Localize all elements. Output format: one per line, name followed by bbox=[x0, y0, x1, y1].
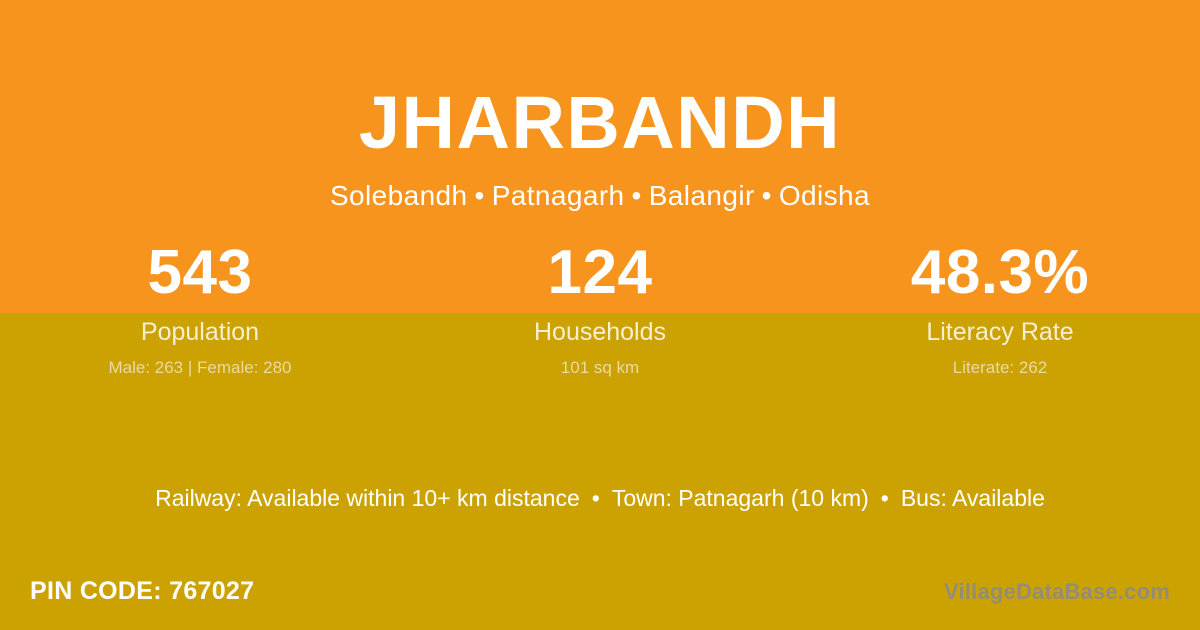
amenity-town: Town: Patnagarh (10 km) bbox=[612, 485, 869, 511]
breadcrumb-item-gram-panchayat: Solebandh bbox=[330, 180, 468, 211]
amenities-line: Railway: Available within 10+ km distanc… bbox=[0, 484, 1200, 513]
stat-label: Population bbox=[0, 317, 400, 347]
stat-population: 543 Population Male: 263 | Female: 280 bbox=[0, 240, 400, 378]
amenity-railway: Railway: Available within 10+ km distanc… bbox=[155, 485, 580, 511]
village-info-card: JHARBANDH Solebandh•Patnagarh•Balangir•O… bbox=[0, 0, 1200, 630]
stat-value: 124 bbox=[400, 240, 800, 307]
card-header: JHARBANDH Solebandh•Patnagarh•Balangir•O… bbox=[0, 0, 1200, 212]
page-title: JHARBANDH bbox=[0, 82, 1200, 165]
site-brand: VillageDataBase.com bbox=[944, 579, 1170, 605]
pin-code: PIN CODE: 767027 bbox=[30, 576, 254, 606]
stat-literacy-rate: 48.3% Literacy Rate Literate: 262 bbox=[800, 240, 1200, 378]
amenity-separator-icon: • bbox=[869, 485, 901, 511]
breadcrumb-separator-icon: • bbox=[468, 180, 492, 211]
stat-detail: Male: 263 | Female: 280 bbox=[0, 358, 400, 378]
stat-value: 543 bbox=[0, 240, 400, 307]
amenity-bus: Bus: Available bbox=[901, 485, 1045, 511]
breadcrumb-separator-icon: • bbox=[755, 180, 779, 211]
stat-label: Literacy Rate bbox=[800, 317, 1200, 347]
stat-detail: 101 sq km bbox=[400, 358, 800, 378]
breadcrumb-item-district: Balangir bbox=[649, 180, 755, 211]
breadcrumb-item-state: Odisha bbox=[779, 180, 870, 211]
card-footer: PIN CODE: 767027 VillageDataBase.com bbox=[0, 570, 1200, 630]
stat-households: 124 Households 101 sq km bbox=[400, 240, 800, 378]
stats-row: 543 Population Male: 263 | Female: 280 1… bbox=[0, 240, 1200, 378]
breadcrumb-separator-icon: • bbox=[625, 180, 649, 211]
stat-detail: Literate: 262 bbox=[800, 358, 1200, 378]
amenity-separator-icon: • bbox=[580, 485, 612, 511]
stat-value: 48.3% bbox=[800, 240, 1200, 307]
breadcrumb-item-block: Patnagarh bbox=[492, 180, 625, 211]
breadcrumb: Solebandh•Patnagarh•Balangir•Odisha bbox=[0, 179, 1200, 213]
stat-label: Households bbox=[400, 317, 800, 347]
